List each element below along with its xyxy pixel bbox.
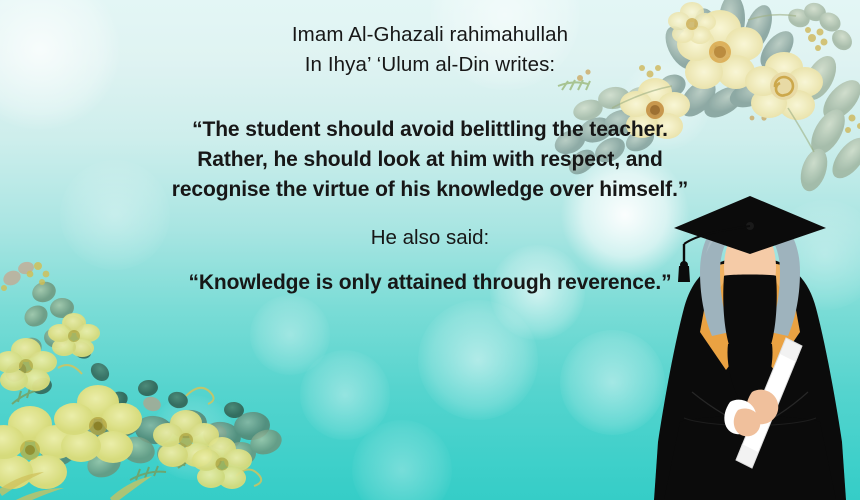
slide-canvas: Imam Al-Ghazali rahimahullah In Ihya’ ‘U…	[0, 0, 860, 500]
bokeh-circle	[352, 420, 452, 500]
second-quote-text: “Knowledge is only attained through reve…	[0, 271, 860, 295]
main-quote-line-3: recognise the virtue of his knowledge ov…	[0, 175, 860, 205]
main-quote-line-1: “The student should avoid belittling the…	[0, 115, 860, 145]
main-quote-block: “The student should avoid belittling the…	[0, 115, 860, 205]
bokeh-circle	[418, 300, 538, 420]
main-quote-line-2: Rather, he should look at him with respe…	[0, 145, 860, 175]
bokeh-circle	[250, 295, 330, 375]
bokeh-circle	[300, 350, 390, 440]
bokeh-circle	[150, 395, 235, 480]
attribution-block: Imam Al-Ghazali rahimahullah In Ihya’ ‘U…	[0, 20, 860, 80]
attribution-line-2: In Ihya’ ‘Ulum al-Din writes:	[0, 50, 860, 80]
attribution-line-1: Imam Al-Ghazali rahimahullah	[0, 20, 860, 50]
second-lead-text: He also said:	[0, 226, 860, 250]
